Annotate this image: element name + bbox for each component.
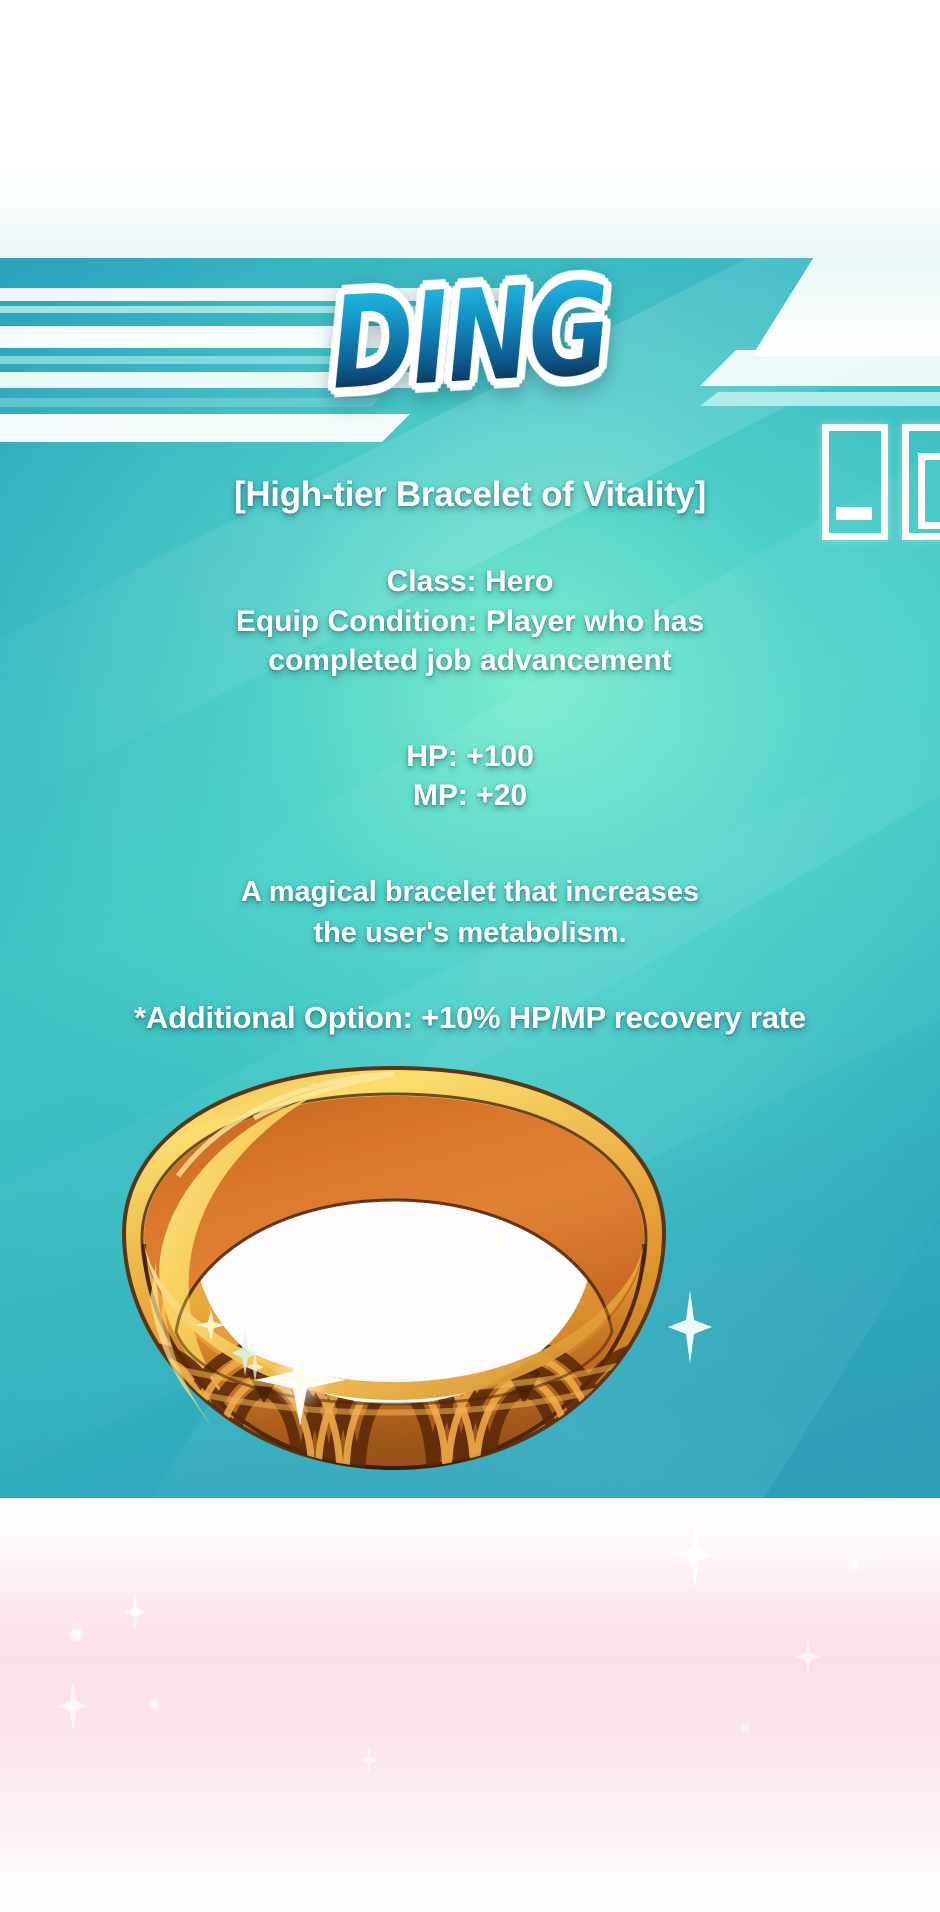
item-stat-hp: HP: +100 <box>0 737 940 777</box>
item-notification-screen: DING [High-tier Bracelet of Vitality] Cl… <box>0 0 940 1912</box>
item-additional-option: *Additional Option: +10% HP/MP recovery … <box>0 1000 940 1036</box>
item-stat-mp: MP: +20 <box>0 776 940 816</box>
spacer <box>0 689 940 737</box>
item-info-block: [High-tier Bracelet of Vitality] Class: … <box>0 474 940 1036</box>
upper-white-background <box>0 0 940 268</box>
item-name: [High-tier Bracelet of Vitality] <box>0 474 940 516</box>
spacer <box>0 824 940 872</box>
sound-effect-title: DING <box>0 272 940 400</box>
bokeh-dot <box>300 1296 310 1306</box>
item-stats-block: HP: +100 MP: +20 <box>0 737 940 816</box>
bokeh-dot <box>150 1700 159 1709</box>
bokeh-dot <box>742 1724 750 1732</box>
item-description-line-2: the user's metabolism. <box>0 913 940 954</box>
gold-bracelet-image <box>104 1048 684 1518</box>
sound-effect-text: DING <box>322 265 618 408</box>
item-class-line: Class: Hero <box>0 562 940 602</box>
bokeh-dot <box>70 1628 83 1641</box>
item-description-line-1: A magical bracelet that increases <box>0 872 940 913</box>
item-requirements-block: Class: Hero Equip Condition: Player who … <box>0 562 940 681</box>
lower-pink-glow-background <box>0 1478 940 1912</box>
item-description-block: A magical bracelet that increases the us… <box>0 872 940 954</box>
item-equip-condition-line-2: completed job advancement <box>0 641 940 681</box>
item-equip-condition-line-1: Equip Condition: Player who has <box>0 602 940 642</box>
spacer <box>0 954 940 1000</box>
bokeh-dot <box>848 1560 859 1571</box>
